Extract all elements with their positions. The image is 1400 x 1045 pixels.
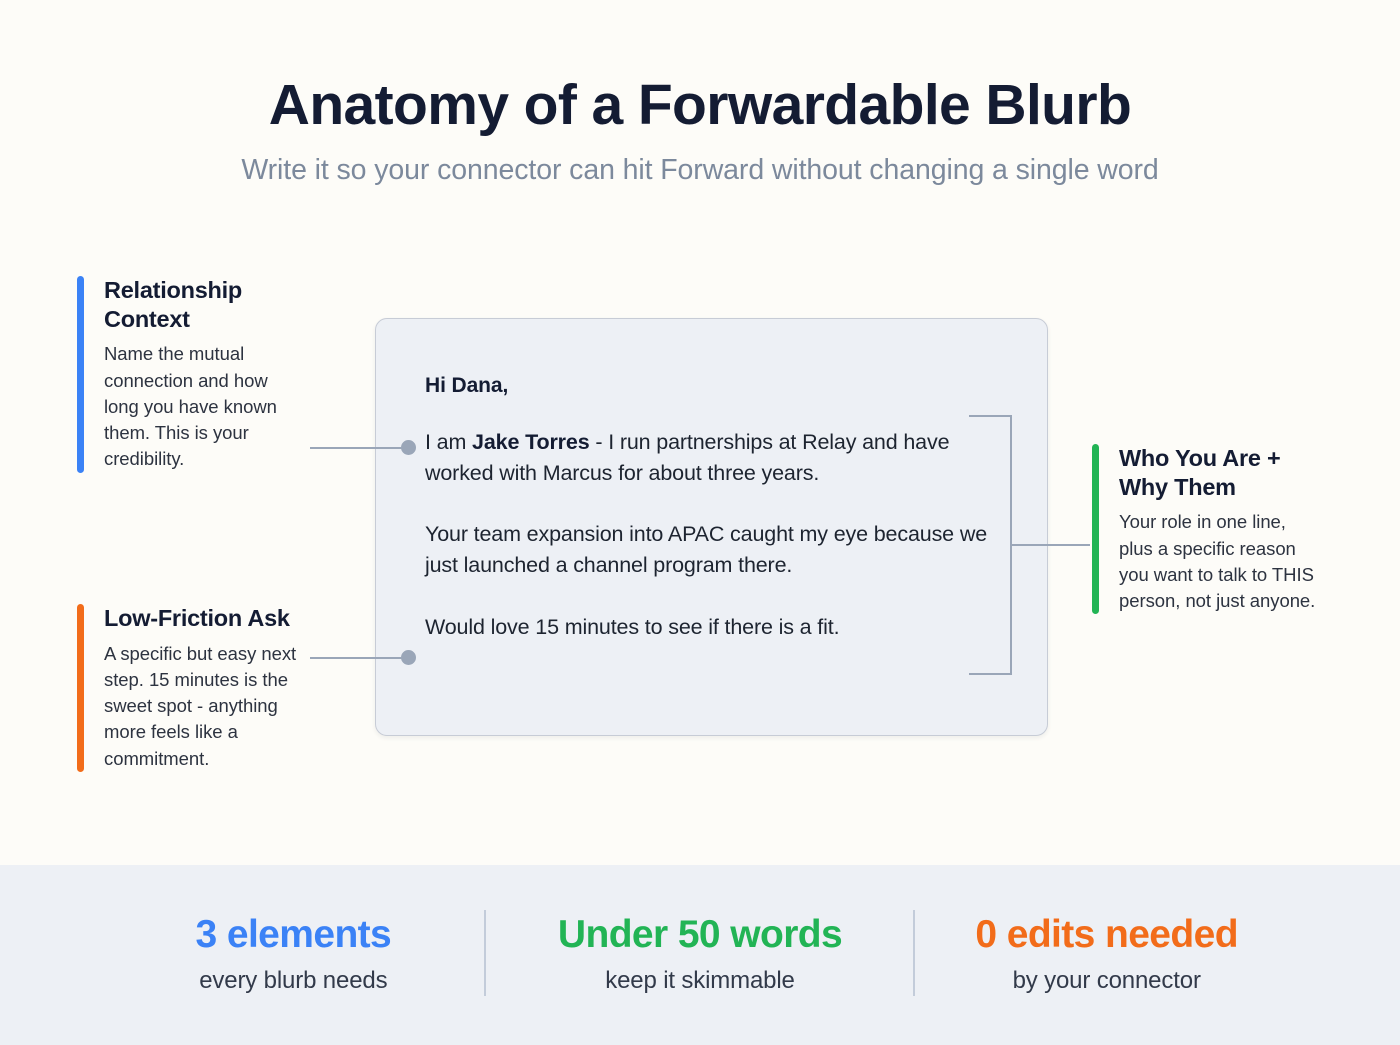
annotation-body: Relationship Context Name the mutual con… (84, 276, 302, 473)
connector-line-low-friction (310, 657, 402, 659)
annotation-description: A specific but easy next step. 15 minute… (104, 641, 322, 772)
stat-edits: 0 edits needed by your connector (903, 915, 1310, 995)
annotation-title: Who You Are + Why Them (1119, 444, 1317, 501)
annotation-body: Low-Friction Ask A specific but easy nex… (84, 604, 322, 772)
connector-dot-relationship (401, 440, 416, 455)
annotation-title: Relationship Context (104, 276, 302, 333)
page-subtitle: Write it so your connector can hit Forwa… (0, 154, 1400, 187)
stat-value: Under 50 words (497, 915, 904, 956)
accent-bar-green (1092, 444, 1099, 614)
annotation-who-you-are-why-them: Who You Are + Why Them Your role in one … (1092, 444, 1337, 614)
annotation-low-friction-ask: Low-Friction Ask A specific but easy nex… (77, 604, 342, 772)
annotation-relationship-context: Relationship Context Name the mutual con… (77, 276, 322, 473)
email-paragraph-intro: I am Jake Torres - I run partnerships at… (425, 427, 1007, 488)
stat-value: 3 elements (90, 915, 497, 956)
stat-value: 0 edits needed (903, 915, 1310, 956)
footer-stats-bar: 3 elements every blurb needs Under 50 wo… (0, 865, 1400, 1045)
connector-line-relationship (310, 447, 402, 449)
connector-bracket-who-you-are (967, 414, 1092, 676)
email-paragraph-why-them: Your team expansion into APAC caught my … (425, 519, 1007, 580)
accent-bar-blue (77, 276, 84, 473)
stat-elements: 3 elements every blurb needs (90, 915, 497, 995)
annotation-description: Your role in one line, plus a specific r… (1119, 509, 1317, 614)
page-title: Anatomy of a Forwardable Blurb (0, 74, 1400, 138)
annotation-body: Who You Are + Why Them Your role in one … (1099, 444, 1317, 614)
accent-bar-orange (77, 604, 84, 772)
stat-label: keep it skimmable (497, 967, 904, 995)
email-body: Hi Dana, I am Jake Torres - I run partne… (425, 374, 1007, 643)
infographic-root: Anatomy of a Forwardable Blurb Write it … (0, 0, 1400, 1045)
annotation-title: Low-Friction Ask (104, 604, 322, 633)
email-paragraph-ask: Would love 15 minutes to see if there is… (425, 612, 1007, 643)
stat-label: by your connector (903, 967, 1310, 995)
stat-label: every blurb needs (90, 967, 497, 995)
email-greeting: Hi Dana, (425, 374, 1007, 398)
stat-words: Under 50 words keep it skimmable (497, 915, 904, 995)
stat-divider-1 (484, 910, 486, 996)
email-sender-name: Jake Torres (472, 430, 589, 454)
annotation-description: Name the mutual connection and how long … (104, 341, 302, 472)
email-text-before-bold: I am (425, 430, 472, 454)
connector-dot-low-friction (401, 650, 416, 665)
email-preview-card: Hi Dana, I am Jake Torres - I run partne… (375, 318, 1048, 736)
header: Anatomy of a Forwardable Blurb Write it … (0, 74, 1400, 187)
stat-divider-2 (913, 910, 915, 996)
stats-row: 3 elements every blurb needs Under 50 wo… (90, 865, 1310, 1045)
